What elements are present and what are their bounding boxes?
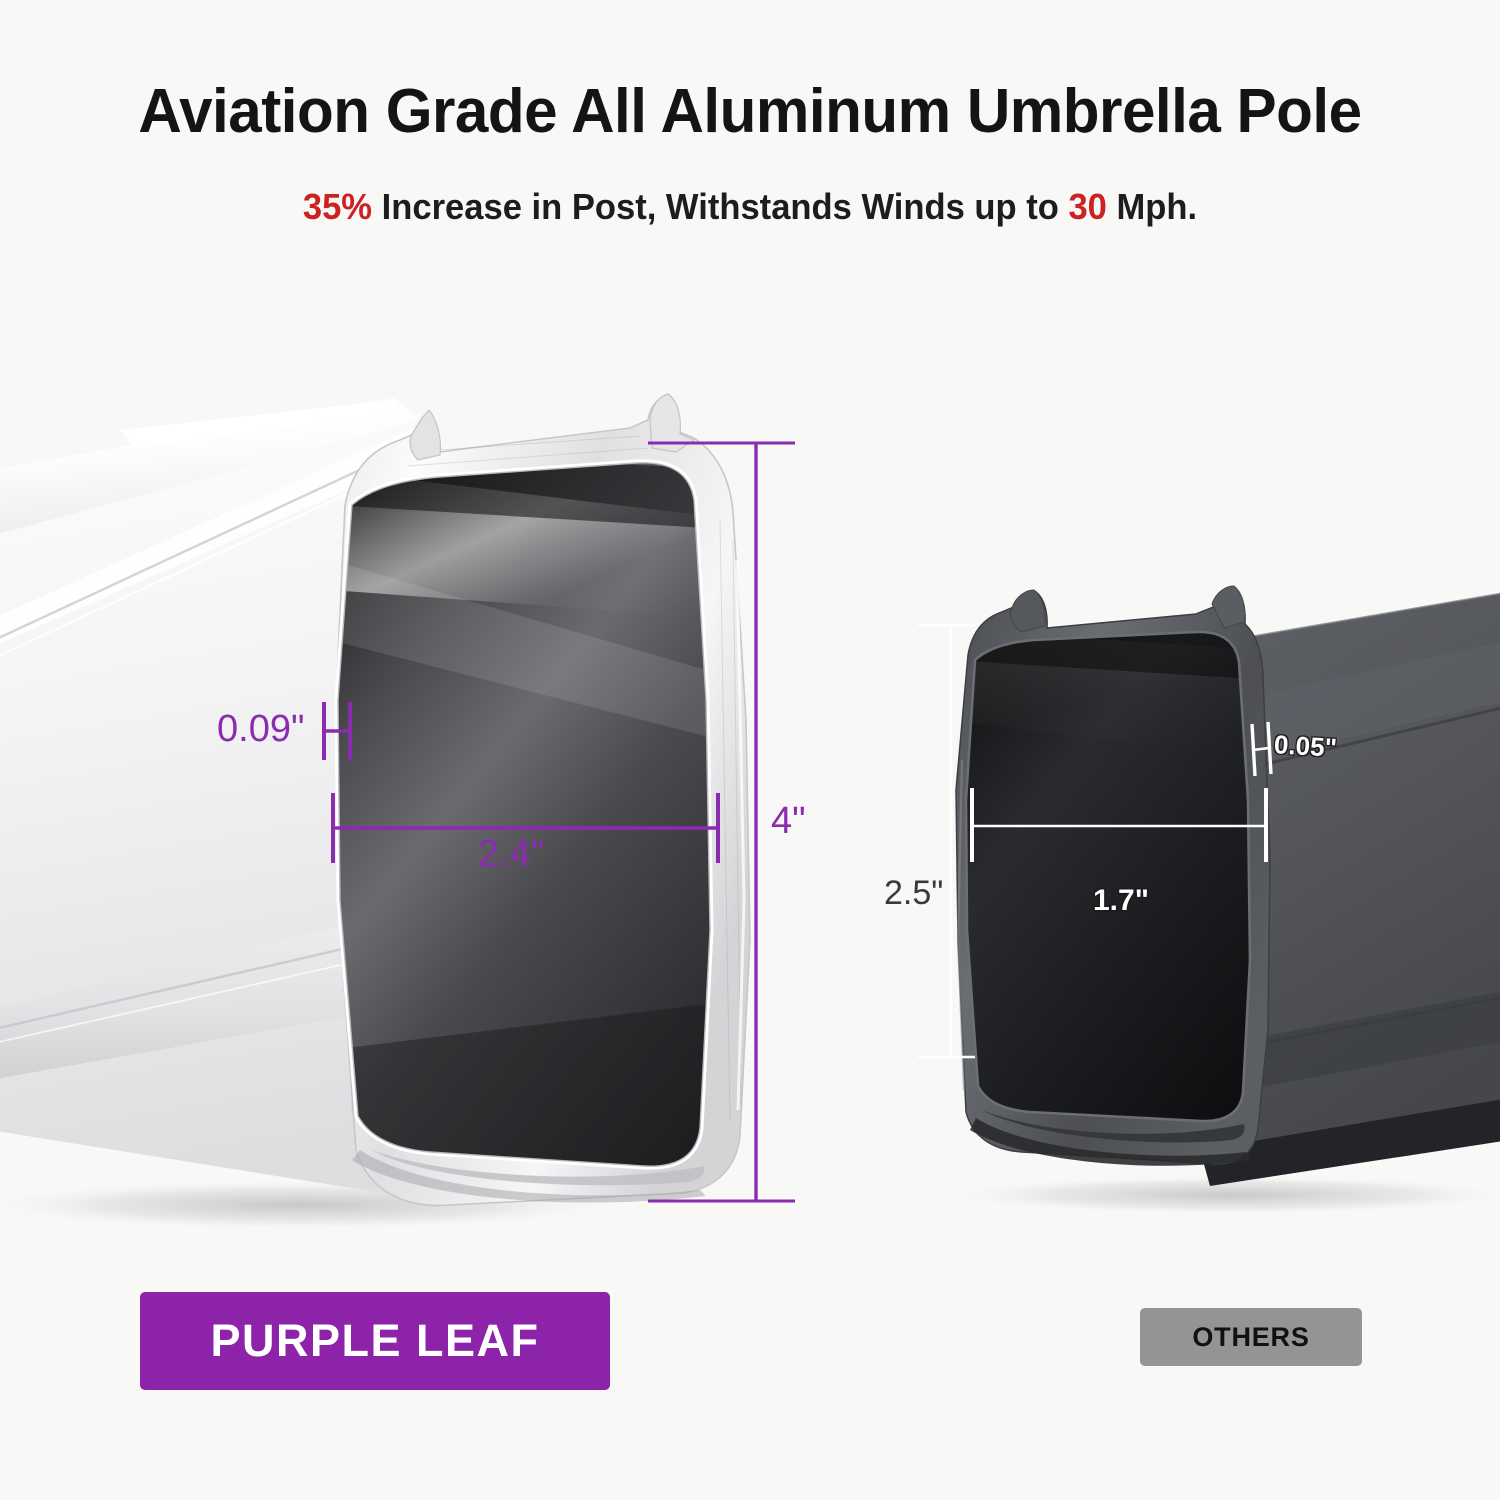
others-pole-artwork	[940, 586, 1500, 1215]
right-wall-thickness-label: 0.05"	[1273, 729, 1338, 764]
left-wall-thickness-label: 0.09"	[217, 708, 304, 751]
brand-badge-others: OTHERS	[1140, 1308, 1362, 1366]
stat-increase: 35%	[303, 186, 372, 227]
subtitle-text-mid: Increase in Post, Withstands Winds up to	[372, 186, 1068, 227]
right-height-label: 2.5"	[884, 874, 943, 913]
page-subtitle: 35% Increase in Post, Withstands Winds u…	[30, 186, 1470, 228]
left-height-label: 4"	[771, 800, 806, 843]
right-width-label: 1.7"	[1093, 884, 1149, 918]
stat-wind: 30	[1068, 186, 1106, 227]
subtitle-text-end: Mph.	[1107, 186, 1197, 227]
page-title: Aviation Grade All Aluminum Umbrella Pol…	[23, 76, 1478, 147]
infographic-canvas: Aviation Grade All Aluminum Umbrella Pol…	[0, 0, 1500, 1500]
left-width-label: 2.4"	[478, 833, 544, 876]
purple-leaf-pole-artwork	[0, 394, 750, 1231]
brand-badge-purple-leaf: PURPLE LEAF	[140, 1292, 610, 1390]
